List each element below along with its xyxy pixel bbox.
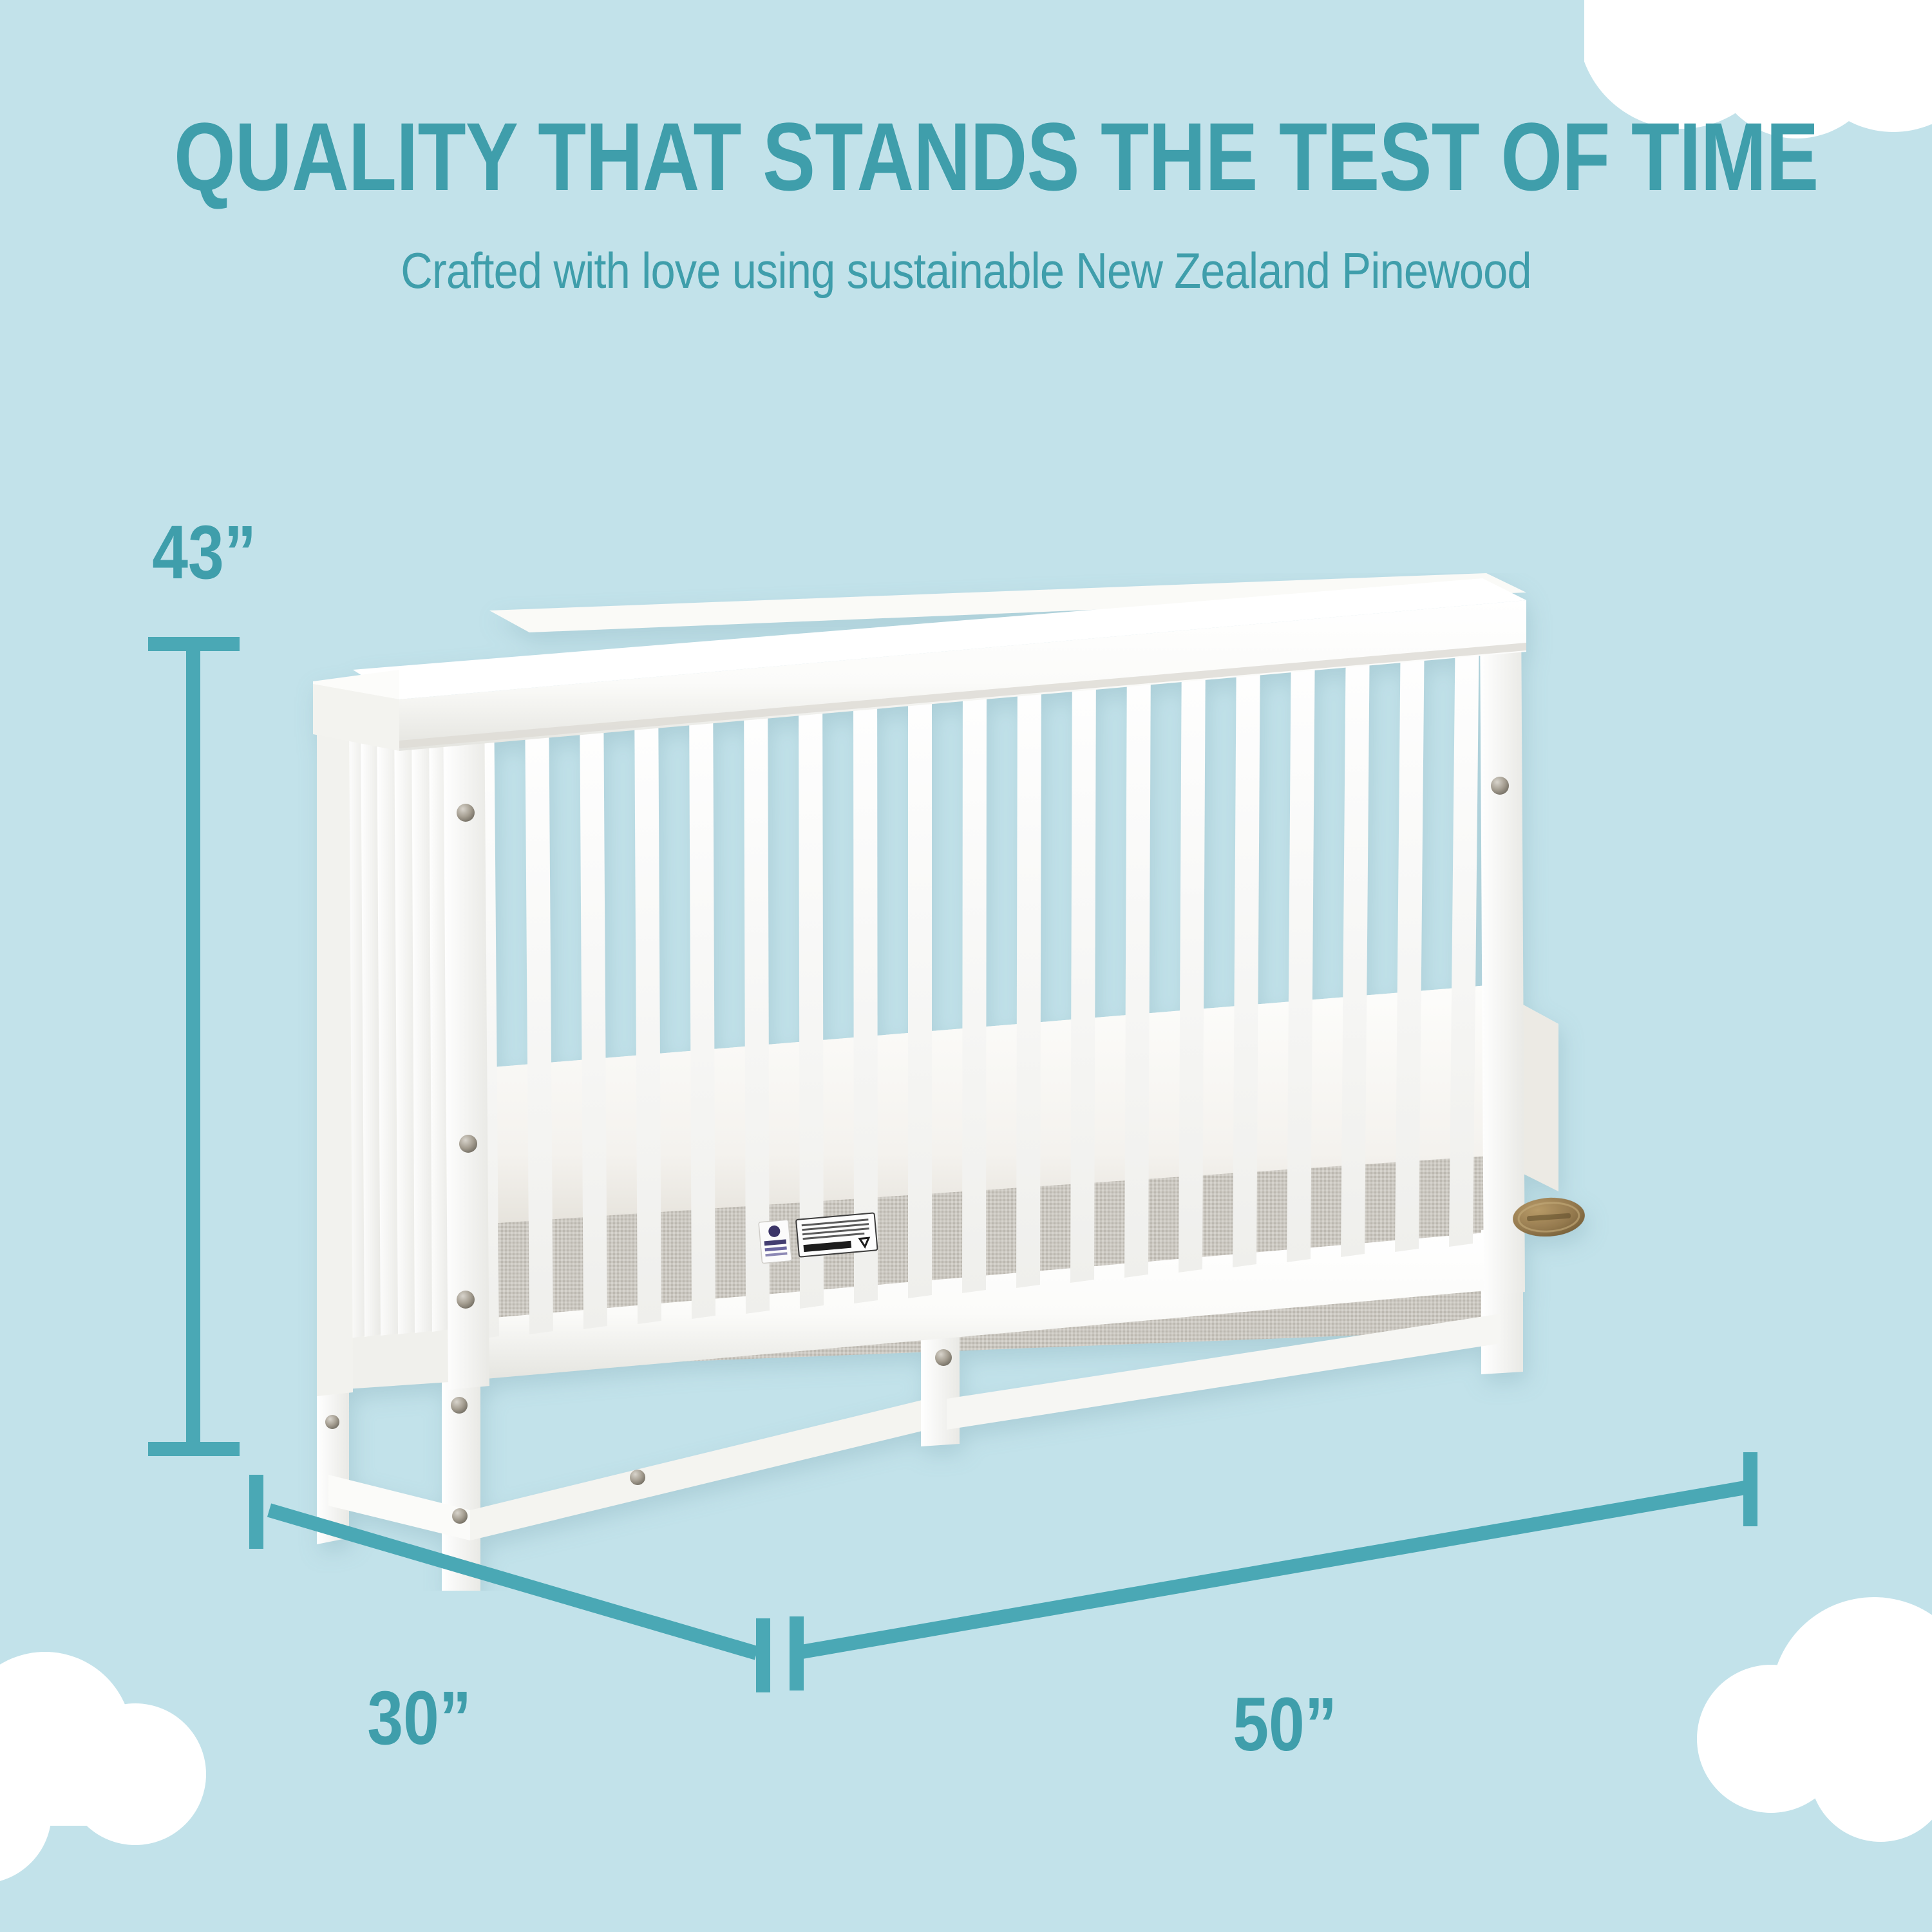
height-dimension-label: 43” — [152, 509, 256, 596]
infographic-canvas: QUALITY THAT STANDS THE TEST OF TIME Cra… — [0, 0, 1932, 1932]
dimension-overlay — [0, 0, 1932, 1932]
depth-dimension-line — [269, 1510, 757, 1653]
depth-dimension-label: 30” — [367, 1674, 471, 1762]
width-dimension-label: 50” — [1233, 1681, 1337, 1768]
width-dimension-line — [802, 1488, 1745, 1652]
